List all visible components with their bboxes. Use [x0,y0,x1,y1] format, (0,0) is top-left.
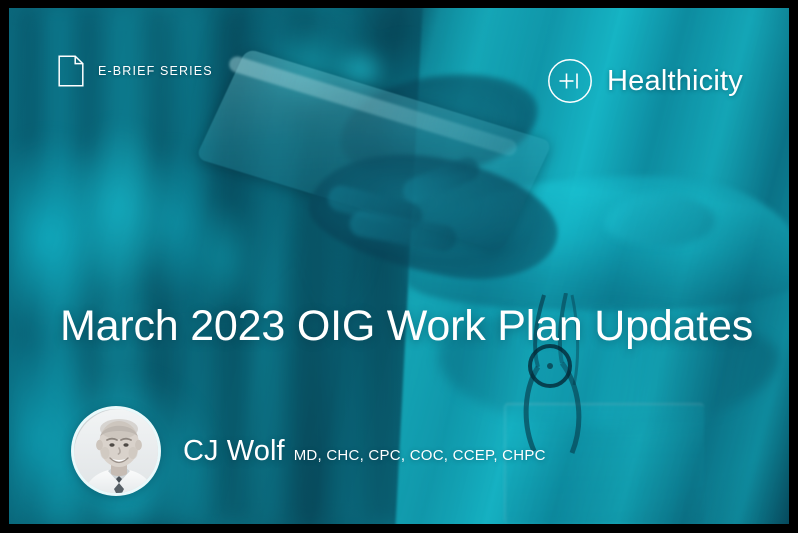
document-page-icon [58,55,84,87]
ebrief-series-label: E-BRIEF SERIES [98,64,213,78]
healthicity-logo[interactable]: Healthicity [547,58,743,104]
cover-canvas: E-BRIEF SERIES Healthicity March 2023 OI… [9,8,789,524]
author-avatar [71,406,161,496]
author-text: CJ Wolf MD, CHC, CPC, COC, CCEP, CHPC [183,435,546,468]
cover-frame: E-BRIEF SERIES Healthicity March 2023 OI… [0,0,798,533]
author-name: CJ Wolf [183,435,285,468]
cover-title: March 2023 OIG Work Plan Updates [60,304,760,349]
author-credentials: MD, CHC, CPC, COC, CCEP, CHPC [294,447,546,464]
author-block: CJ Wolf MD, CHC, CPC, COC, CCEP, CHPC [71,406,546,496]
ebrief-series-badge: E-BRIEF SERIES [58,55,213,87]
cover-content: E-BRIEF SERIES Healthicity March 2023 OI… [9,8,789,524]
healthicity-wordmark: Healthicity [607,65,743,98]
healthicity-circle-plus-h-icon [547,58,593,104]
